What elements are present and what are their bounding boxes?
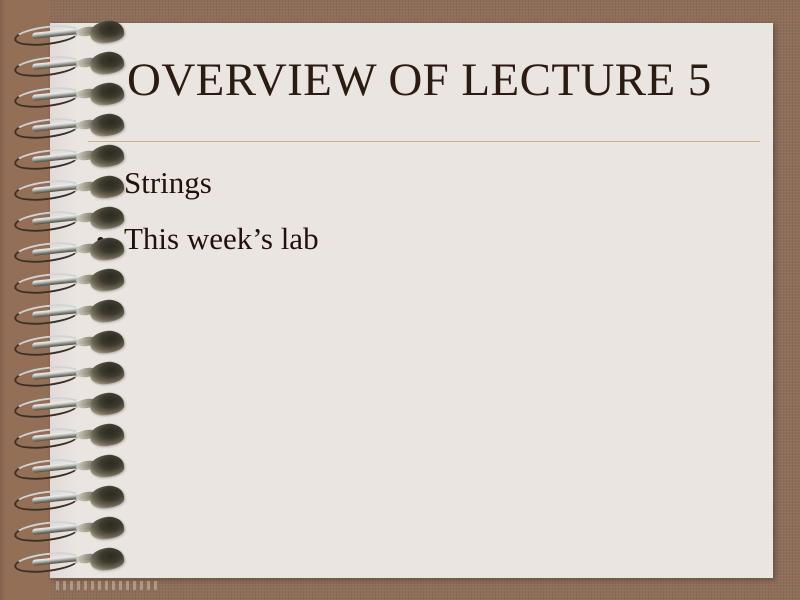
bullet-point-icon: •: [96, 222, 124, 260]
list-item-label: This week’s lab: [124, 220, 319, 258]
bullet-point-icon: •: [96, 166, 124, 204]
list-item: • This week’s lab: [96, 220, 716, 260]
bullet-list: • Strings • This week’s lab: [96, 164, 716, 276]
page-inner-shadow: [50, 23, 76, 578]
spiral-gutter: [0, 0, 50, 600]
list-item: • Strings: [96, 164, 716, 204]
list-item-label: Strings: [124, 164, 212, 202]
title-divider-rule: [88, 141, 760, 142]
gutter-shadow: [0, 0, 6, 600]
page-title: OVERVIEW OF LECTURE 5: [127, 52, 767, 108]
presentation-slide: OVERVIEW OF LECTURE 5 • Strings • This w…: [0, 0, 800, 600]
page-edge-artifact: [56, 581, 160, 590]
title-block: OVERVIEW OF LECTURE 5: [127, 52, 767, 122]
